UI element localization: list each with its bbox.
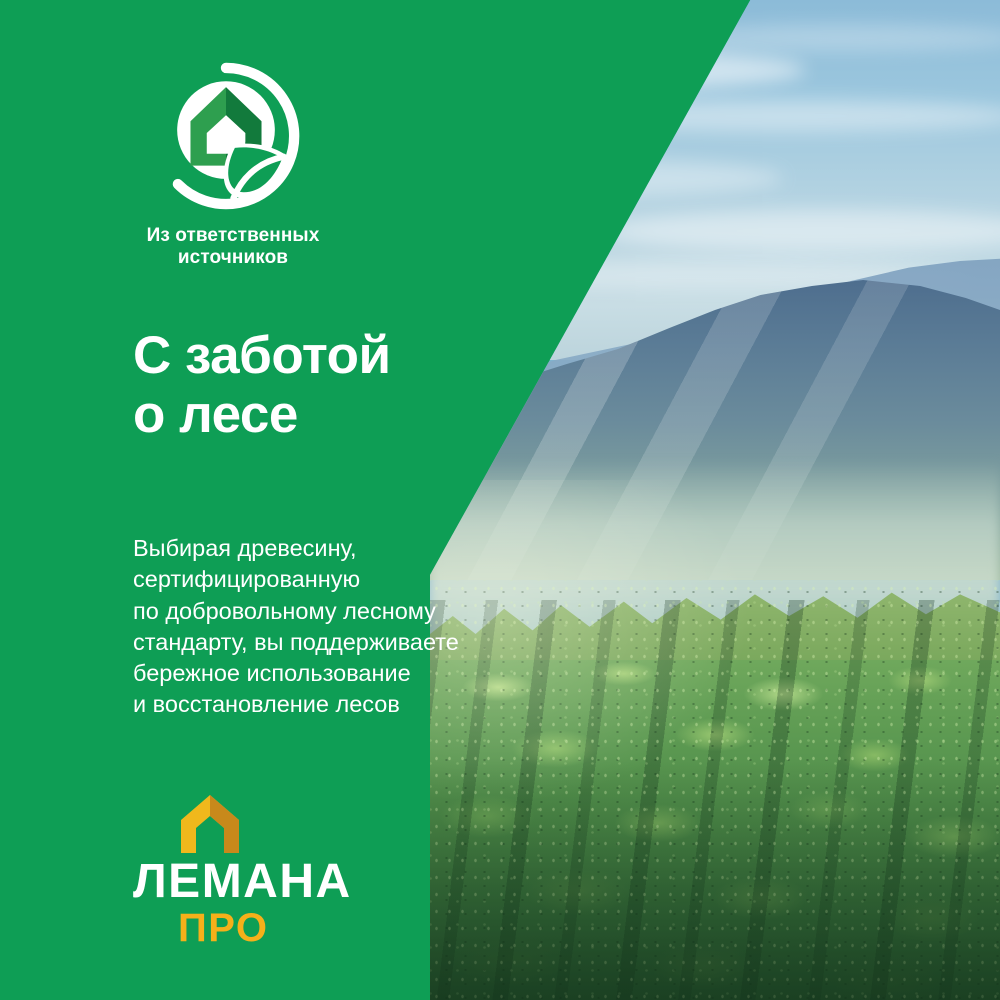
headline-line-1: С заботой: [133, 326, 391, 385]
headline: С заботой о лесе: [133, 327, 563, 445]
cloud-wisp: [658, 25, 1000, 51]
responsible-sourcing-house-leaf-icon: [152, 62, 300, 210]
lemana-pro-house-icon: [176, 793, 244, 855]
headline-line-2: о лесе: [133, 386, 563, 445]
brand-name: ЛЕМАНА: [133, 858, 433, 906]
certification-badge: Из ответственных источников: [152, 62, 352, 262]
brand-lockup: ЛЕМАНА ПРО: [133, 793, 433, 948]
paragraph-line: стандарту, вы поддерживаете: [133, 627, 553, 658]
paragraph-line: бережное использование: [133, 658, 553, 689]
body-paragraph: Выбирая древесину, сертифицированную по …: [133, 533, 553, 721]
certification-badge-caption: Из ответственных источников: [128, 225, 338, 270]
badge-caption-line-2: источников: [178, 247, 288, 268]
promo-banner: Из ответственных источников С заботой о …: [0, 0, 1000, 1000]
cloud-wisp: [533, 100, 1000, 132]
badge-caption-line-1: Из ответственных: [147, 225, 320, 246]
paragraph-line: по добровольному лесному: [133, 596, 553, 627]
paragraph-line: сертифицированную: [133, 564, 553, 595]
brand-sub: ПРО: [178, 908, 433, 948]
content-panel: Из ответственных источников С заботой о …: [0, 0, 560, 1000]
paragraph-line: Выбирая древесину,: [133, 533, 553, 564]
paragraph-line: и восстановление лесов: [133, 689, 553, 720]
